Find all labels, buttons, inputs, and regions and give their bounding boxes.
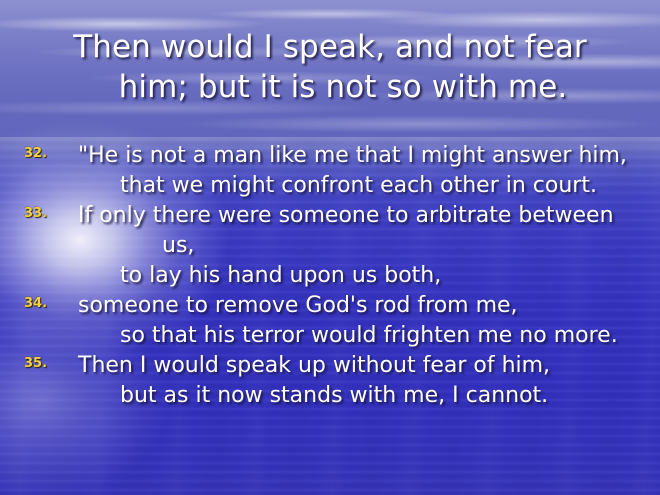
verse-line: to lay his hand upon us both, bbox=[78, 261, 660, 291]
verse-item: 34. someone to remove God's rod from me,… bbox=[0, 291, 660, 351]
verse-number: 33. bbox=[24, 206, 58, 221]
verse-line: "He is not a man like me that I might an… bbox=[78, 141, 660, 171]
verse-item: 32. "He is not a man like me that I migh… bbox=[0, 141, 660, 201]
verse-text: "He is not a man like me that I might an… bbox=[0, 141, 660, 201]
verse-text: someone to remove God's rod from me, so … bbox=[0, 291, 660, 351]
verse-item: 33. If only there were someone to arbitr… bbox=[0, 201, 660, 291]
slide-content: Then would I speak, and not fear him; bu… bbox=[0, 0, 660, 495]
verse-line: If only there were someone to arbitrate … bbox=[78, 201, 660, 231]
slide-title-line-1: Then would I speak, and not fear bbox=[0, 27, 660, 67]
slide-title: Then would I speak, and not fear him; bu… bbox=[0, 27, 660, 107]
verse-line: someone to remove God's rod from me, bbox=[78, 291, 660, 321]
verse-line: Then I would speak up without fear of hi… bbox=[78, 351, 660, 381]
verse-number: 35. bbox=[24, 356, 58, 371]
verse-number: 32. bbox=[24, 146, 58, 161]
presentation-slide: Then would I speak, and not fear him; bu… bbox=[0, 0, 660, 495]
verse-line: so that his terror would frighten me no … bbox=[78, 321, 660, 351]
verse-line: but as it now stands with me, I cannot. bbox=[78, 381, 660, 411]
verse-line: us, bbox=[78, 231, 660, 261]
verse-text: If only there were someone to arbitrate … bbox=[0, 201, 660, 291]
verse-line: that we might confront each other in cou… bbox=[78, 171, 660, 201]
verse-list: 32. "He is not a man like me that I migh… bbox=[0, 141, 660, 411]
verse-number: 34. bbox=[24, 296, 58, 311]
slide-title-line-2: him; but it is not so with me. bbox=[0, 67, 660, 107]
verse-item: 35. Then I would speak up without fear o… bbox=[0, 351, 660, 411]
verse-text: Then I would speak up without fear of hi… bbox=[0, 351, 660, 411]
